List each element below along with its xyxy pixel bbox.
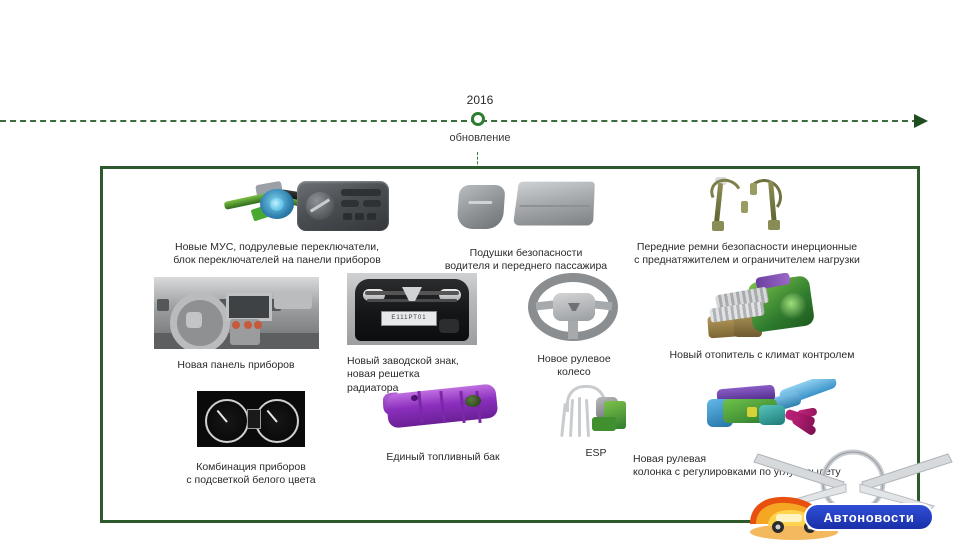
timeline-node-marker	[471, 112, 485, 126]
feature-item-seat-belts[interactable]: Передние ремни безопасности инерционные …	[621, 173, 873, 268]
dashboard-panel-icon	[154, 277, 319, 349]
steering-column-icon	[701, 379, 843, 443]
switch-block-panel-icon	[297, 181, 389, 231]
feature-item-mus-switches[interactable]: Новые МУС, подрулевые переключатели, бло…	[157, 177, 397, 268]
feature-caption: Новое рулевое колесо	[501, 353, 647, 380]
airbag-modules-icon	[452, 177, 600, 233]
feature-item-airbags[interactable]: Подушки безопасности водителя и переднег…	[433, 177, 619, 274]
car-front-grille-icon: Е111РТ01	[347, 273, 477, 345]
feature-caption: Новые МУС, подрулевые переключатели, бло…	[157, 241, 397, 268]
esp-module-icon	[556, 379, 636, 441]
feature-caption: Комбинация приборов с подсветкой белого …	[151, 461, 351, 488]
feature-item-fuel-tank[interactable]: Единый топливный бак	[351, 381, 535, 464]
feature-item-steering-wheel[interactable]: Новое рулевое колесо	[501, 271, 647, 380]
timeline-year-label: 2016	[430, 93, 530, 107]
feature-item-heater-climate[interactable]: Новый отопитель с климат контролем	[651, 273, 873, 362]
slide-canvas: 2016 обновление Новые МУС, подрулевые пе…	[0, 0, 960, 540]
feature-item-instrument-panel[interactable]: Новая панель приборов	[141, 277, 331, 372]
heater-unit-icon	[704, 273, 820, 341]
watermark: Автоновости	[746, 448, 960, 540]
license-plate-text: Е111РТ01	[382, 312, 436, 325]
feature-caption: Передние ремни безопасности инерционные …	[621, 241, 873, 268]
feature-item-front-grille[interactable]: Е111РТ01 Новый заводской знак, новая реш…	[347, 273, 497, 395]
feature-caption: Подушки безопасности водителя и переднег…	[433, 247, 619, 274]
watermark-badge: Автоновости	[804, 503, 934, 531]
timeline-dashed-line	[0, 120, 918, 122]
watermark-text: Автоновости	[824, 510, 915, 525]
seat-belts-icon	[694, 173, 800, 231]
timeline: 2016 обновление	[0, 120, 960, 122]
timeline-node-caption: обновление	[418, 132, 542, 144]
instrument-cluster-icon	[197, 391, 305, 447]
feature-item-instrument-cluster[interactable]: Комбинация приборов с подсветкой белого …	[151, 391, 351, 488]
feature-caption: Новая панель приборов	[141, 359, 331, 372]
fuel-tank-icon	[383, 381, 503, 433]
timeline-arrow-icon	[914, 114, 928, 128]
feature-caption: Новый отопитель с климат контролем	[651, 349, 873, 362]
steering-wheel-icon	[526, 271, 622, 345]
feature-caption: Единый топливный бак	[351, 451, 535, 464]
